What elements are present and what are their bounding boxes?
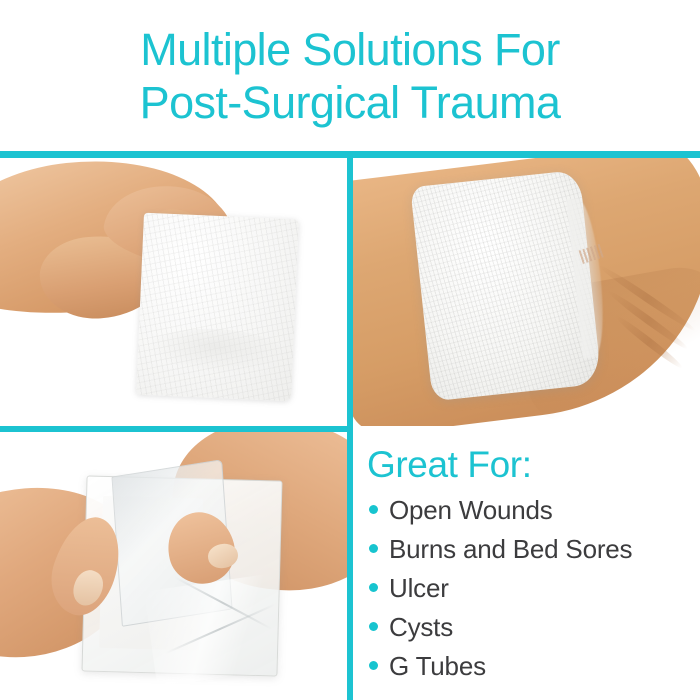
product-feature-poster: Multiple Solutions For Post-Surgical Tra… — [0, 0, 700, 700]
list-item-label: Burns and Bed Sores — [389, 534, 632, 564]
great-for-list: Open Wounds Burns and Bed Sores Ulcer Cy… — [367, 490, 694, 685]
list-item-label: G Tubes — [389, 651, 486, 681]
list-item-label: Ulcer — [389, 573, 449, 603]
headline-line-2: Post-Surgical Trauma — [140, 76, 561, 129]
bullet-icon — [369, 544, 378, 553]
hands-opening-sterile-pouch-photo — [0, 432, 347, 700]
bullet-icon — [369, 505, 378, 514]
page-title: Multiple Solutions For Post-Surgical Tra… — [0, 0, 700, 152]
bullet-icon — [369, 622, 378, 631]
gauze-pad-shape — [136, 213, 299, 402]
list-item: G Tubes — [367, 646, 694, 685]
bandaged-forearm-photo — [353, 158, 700, 426]
list-item: Burns and Bed Sores — [367, 529, 694, 568]
list-item: Cysts — [367, 607, 694, 646]
list-item: Ulcer — [367, 568, 694, 607]
list-item-label: Open Wounds — [389, 495, 553, 525]
list-item-label: Cysts — [389, 612, 453, 642]
bullet-icon — [369, 583, 378, 592]
great-for-title: Great For: — [367, 444, 694, 486]
headline-line-1: Multiple Solutions For — [140, 23, 560, 76]
bullet-icon — [369, 661, 378, 670]
list-item: Open Wounds — [367, 490, 694, 529]
gauze-bandage-shape — [410, 170, 602, 402]
hand-holding-gauze-pad-photo — [0, 158, 347, 426]
great-for-panel: Great For: Open Wounds Burns and Bed Sor… — [353, 432, 700, 700]
